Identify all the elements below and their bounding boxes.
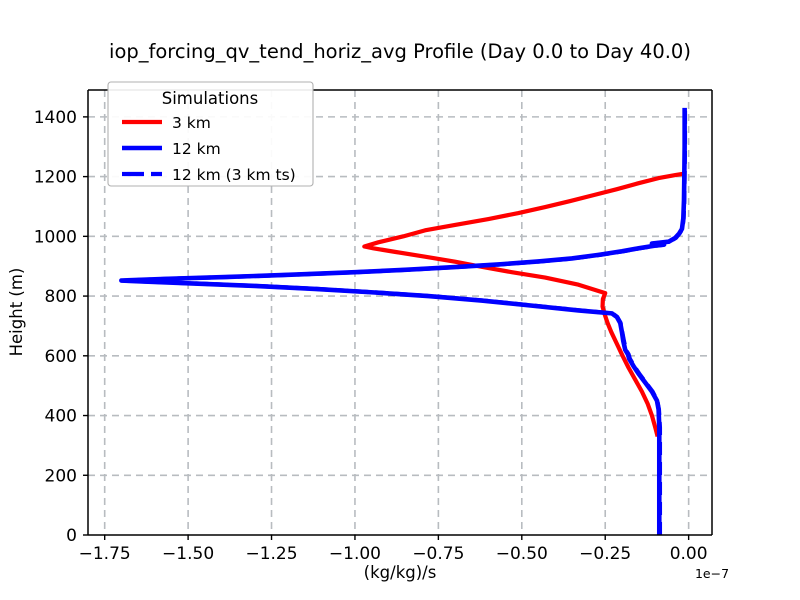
y-axis-ticks: 0200400600800100012001400 [34,108,88,546]
legend-title: Simulations [162,89,259,108]
legend-label-2[interactable]: 12 km (3 km ts) [172,166,296,184]
y-axis-label: Height (m) [7,268,26,357]
y-tick-label-3: 600 [45,347,77,367]
x-axis-ticks: −1.75−1.50−1.25−1.00−0.75−0.50−0.250.00 [79,535,708,564]
x-tick-label-1: −1.50 [162,544,214,564]
legend[interactable]: Simulations 3 km12 km12 km (3 km ts) [108,82,313,186]
x-tick-label-6: −0.25 [579,544,631,564]
x-axis-exponent: 1e−7 [695,566,729,581]
x-tick-label-4: −0.75 [412,544,464,564]
y-tick-label-2: 400 [45,407,77,427]
y-tick-label-5: 1000 [34,227,77,247]
y-tick-label-6: 1200 [34,168,77,188]
chart-figure: iop_forcing_qv_tend_horiz_avg Profile (D… [0,0,800,600]
x-axis-label: (kg/kg)/s [364,563,437,582]
y-tick-label-0: 0 [66,526,77,546]
x-tick-label-3: −1.00 [329,544,381,564]
y-tick-label-7: 1400 [34,108,77,128]
y-tick-label-1: 200 [45,466,77,486]
x-tick-label-7: 0.00 [670,544,708,564]
x-tick-label-2: −1.25 [245,544,297,564]
y-tick-label-4: 800 [45,287,77,307]
plot-area: −1.75−1.50−1.25−1.00−0.75−0.50−0.250.00 … [0,0,800,600]
x-tick-label-0: −1.75 [79,544,131,564]
legend-label-0[interactable]: 3 km [172,114,211,132]
x-tick-label-5: −0.50 [496,544,548,564]
legend-label-1[interactable]: 12 km [172,140,221,158]
